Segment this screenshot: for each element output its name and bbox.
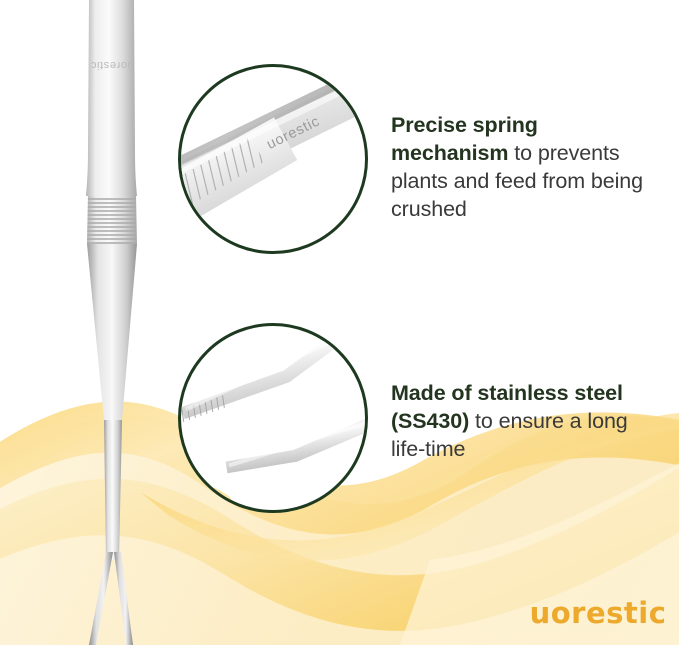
feature-material-text: Made of stainless steel (SS430) to ensur…: [391, 380, 659, 464]
brand-wordmark-logo: uorestic: [527, 596, 669, 632]
spring-mechanism-closeup: uorestic: [181, 67, 365, 251]
handle-engraved-brand: uorestic: [90, 59, 133, 71]
product-infographic: uorestic: [0, 0, 679, 645]
angled-tips-closeup: [181, 326, 365, 510]
tweezer-tip-left: [89, 552, 113, 645]
tweezer-handle: [86, 0, 137, 196]
magnifier-circle-angled-tips: [178, 323, 368, 513]
feature-spring-text: Precise spring mechanism to prevents pla…: [391, 112, 659, 224]
tip-upper-highlight: [185, 336, 338, 412]
magnifier-circle-spring-mechanism: uorestic: [178, 64, 368, 254]
wave-peek: [181, 486, 231, 510]
brand-wordmark-text: uorestic: [530, 596, 667, 630]
tweezer-tip-right: [114, 552, 133, 645]
tweezer-shaft-lower: [104, 420, 122, 560]
